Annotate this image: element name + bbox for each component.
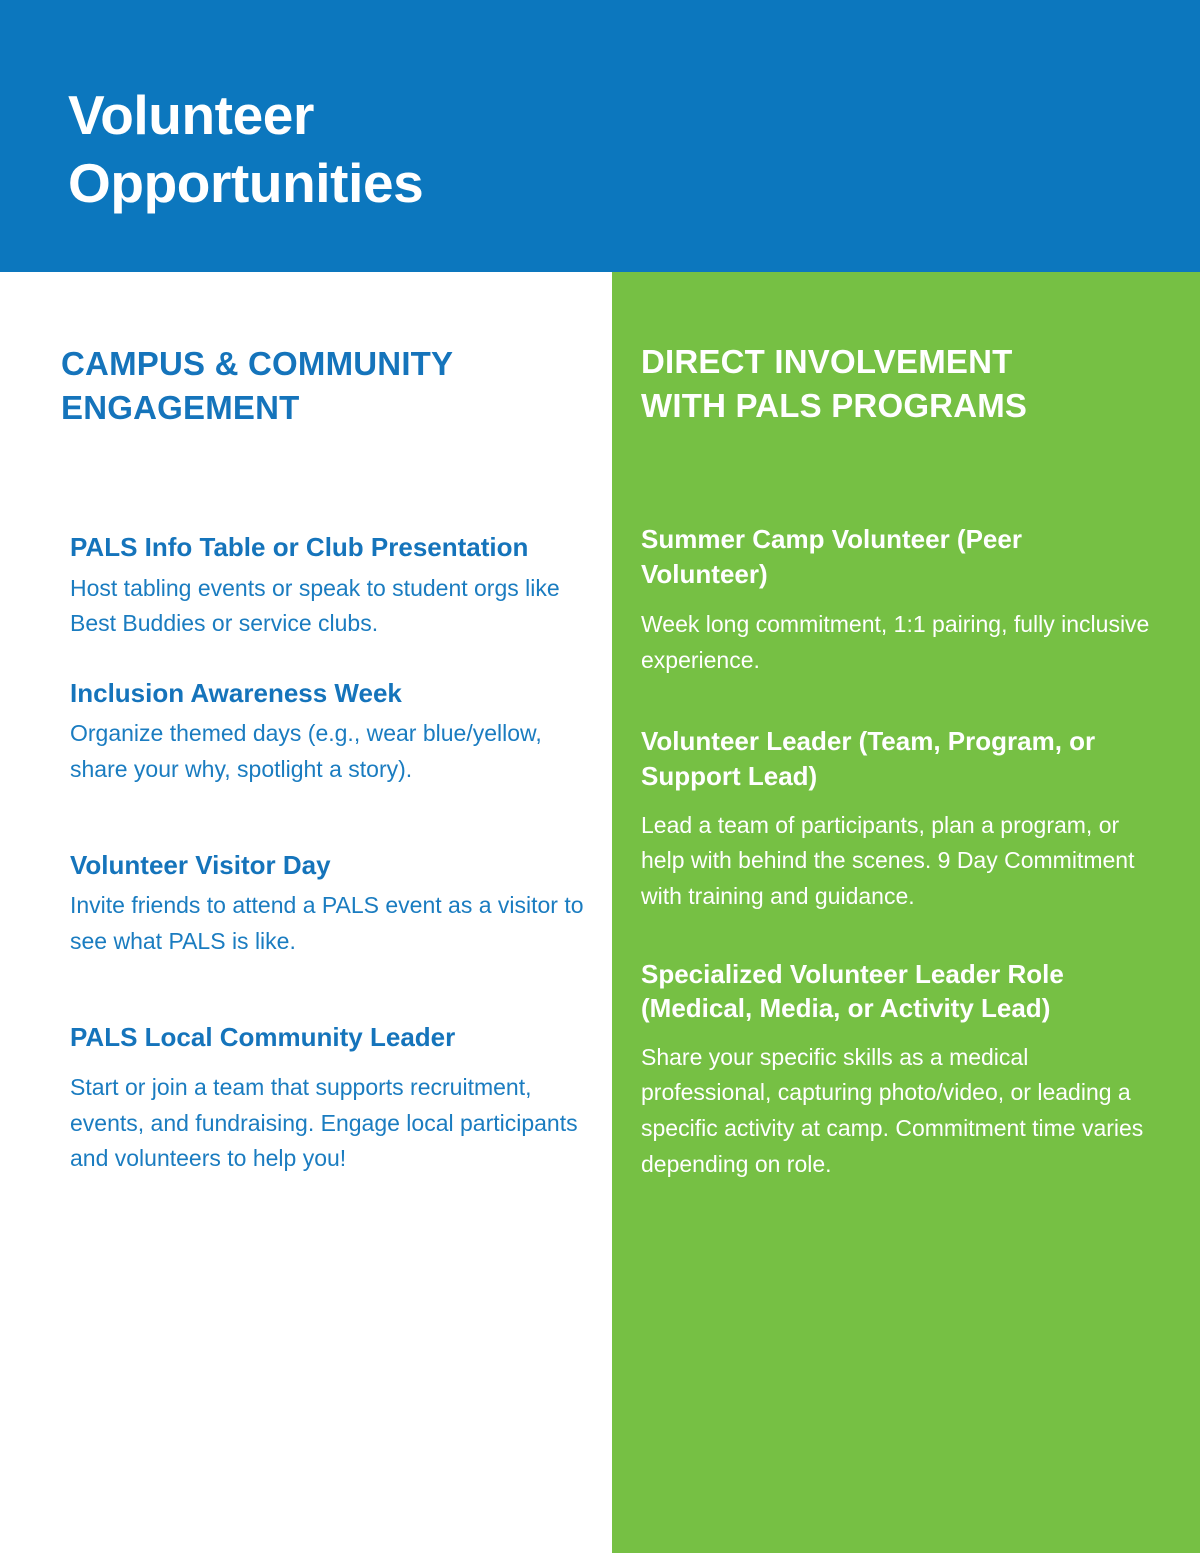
item-description: Lead a team of participants, plan a prog… xyxy=(641,808,1151,915)
direct-involvement-column: DIRECT INVOLVEMENT WITH PALS PROGRAMS Su… xyxy=(612,272,1200,1553)
item-description: Host tabling events or speak to student … xyxy=(70,571,590,642)
list-item: Volunteer Leader (Team, Program, or Supp… xyxy=(641,724,1151,914)
campus-community-engagement-column: CAMPUS & COMMUNITY ENGAGEMENT PALS Info … xyxy=(0,272,612,1553)
left-items-list: PALS Info Table or Club Presentation Hos… xyxy=(70,530,590,1177)
page-title: Volunteer Opportunities xyxy=(68,82,768,217)
right-items-list: Summer Camp Volunteer (Peer Volunteer) W… xyxy=(641,522,1151,1182)
list-item: Volunteer Visitor Day Invite friends to … xyxy=(70,848,590,960)
list-item: PALS Info Table or Club Presentation Hos… xyxy=(70,530,590,642)
right-section-heading: DIRECT INVOLVEMENT WITH PALS PROGRAMS xyxy=(641,340,1171,428)
list-item: Inclusion Awareness Week Organize themed… xyxy=(70,676,590,788)
item-title: Inclusion Awareness Week xyxy=(70,676,590,711)
volunteer-opportunities-flyer: Volunteer Opportunities CAMPUS & COMMUNI… xyxy=(0,0,1200,1553)
item-description: Share your specific skills as a medical … xyxy=(641,1040,1151,1183)
list-item: PALS Local Community Leader Start or joi… xyxy=(70,1020,590,1178)
item-title: PALS Local Community Leader xyxy=(70,1020,590,1055)
header-banner: Volunteer Opportunities xyxy=(0,0,1200,272)
left-section-heading: CAMPUS & COMMUNITY ENGAGEMENT xyxy=(61,342,601,430)
item-title: Specialized Volunteer Leader Role (Medic… xyxy=(641,957,1151,1026)
item-description: Start or join a team that supports recru… xyxy=(70,1070,590,1177)
item-title: Volunteer Visitor Day xyxy=(70,848,590,883)
item-title: Summer Camp Volunteer (Peer Volunteer) xyxy=(641,522,1151,591)
item-description: Invite friends to attend a PALS event as… xyxy=(70,888,590,959)
item-description: Week long commitment, 1:1 pairing, fully… xyxy=(641,607,1151,678)
item-title: PALS Info Table or Club Presentation xyxy=(70,530,590,565)
item-description: Organize themed days (e.g., wear blue/ye… xyxy=(70,716,590,787)
item-title: Volunteer Leader (Team, Program, or Supp… xyxy=(641,724,1151,793)
list-item: Specialized Volunteer Leader Role (Medic… xyxy=(641,957,1151,1183)
list-item: Summer Camp Volunteer (Peer Volunteer) W… xyxy=(641,522,1151,678)
